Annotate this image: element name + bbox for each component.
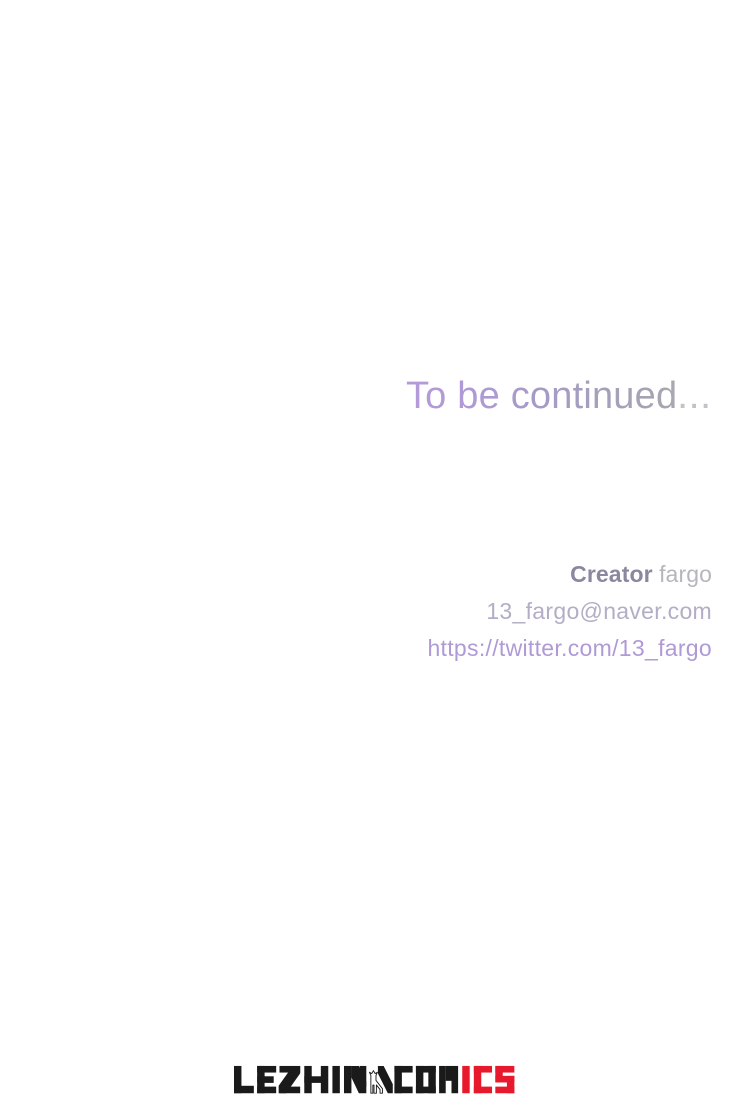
logo-letter-O — [416, 1066, 436, 1093]
to-be-continued-block: To be continued... — [0, 376, 712, 418]
logo-letter-L — [234, 1066, 254, 1093]
to-be-continued-text: To be continued... — [406, 376, 712, 418]
creator-credits-block: Creator fargo 13_fargo@naver.com https:/… — [0, 556, 712, 667]
logo-letter-I-accent — [462, 1066, 469, 1093]
comic-page-footer: To be continued... Creator fargo 13_farg… — [0, 0, 750, 1113]
logo-letter-S-accent — [495, 1066, 514, 1093]
logo-letter-C-accent — [474, 1066, 492, 1093]
credit-row-twitter[interactable]: https://twitter.com/13_fargo — [0, 630, 712, 667]
logo-letter-N — [344, 1066, 366, 1093]
logo-letter-Z — [279, 1066, 301, 1093]
to-be-continued-label: To be continued — [406, 375, 677, 417]
logo-letter-E — [257, 1066, 276, 1093]
creator-email: 13_fargo@naver.com — [486, 598, 712, 624]
creator-name: fargo — [659, 561, 712, 587]
ellipsis: ... — [677, 375, 712, 417]
logo-letter-H — [304, 1066, 328, 1093]
lezhin-comics-logo: LEZHIN COMICS — [0, 1060, 750, 1100]
creator-label: Creator — [570, 561, 653, 587]
logo-letter-I — [332, 1066, 339, 1093]
lezhin-comics-logo-svg — [234, 1060, 516, 1100]
logo-letter-M — [439, 1066, 458, 1093]
creator-twitter-url[interactable]: https://twitter.com/13_fargo — [427, 635, 712, 661]
credit-row-creator: Creator fargo — [0, 556, 712, 593]
logo-letter-C — [394, 1066, 412, 1093]
credit-row-email: 13_fargo@naver.com — [0, 593, 712, 630]
